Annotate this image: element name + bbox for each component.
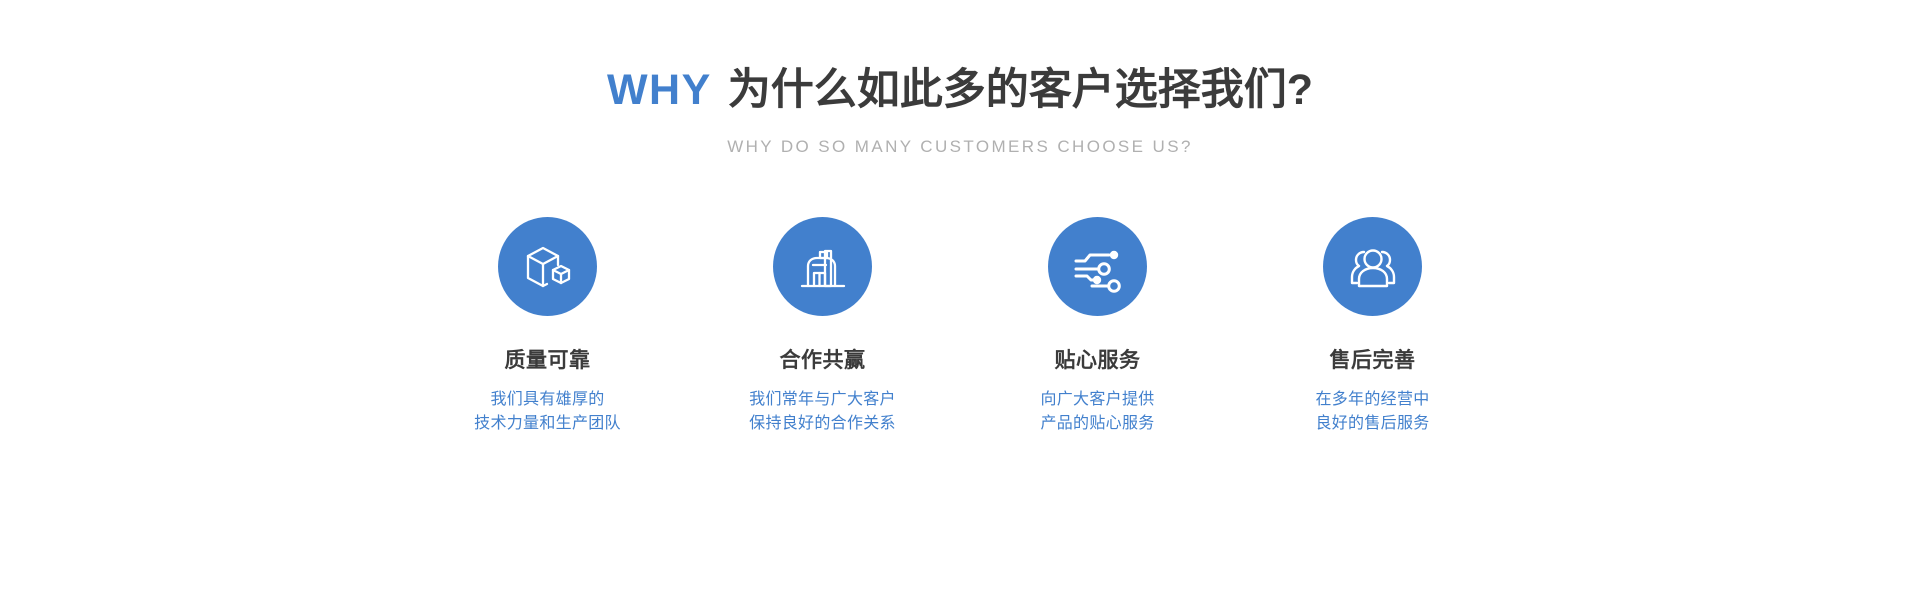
feature-item-service[interactable]: 贴心服务 向广大客户提供 产品的贴心服务 (975, 217, 1220, 437)
feature-item-cooperation[interactable]: 合作共赢 我们常年与广大客户 保持良好的合作关系 (700, 217, 945, 437)
feature-desc-2-line2: 保持良好的合作关系 (749, 412, 896, 437)
feature-desc-2: 我们常年与广大客户 保持良好的合作关系 (749, 388, 896, 438)
feature-desc-1: 我们具有雄厚的 技术力量和生产团队 (474, 388, 621, 438)
page-title: WHY为什么如此多的客户选择我们? (0, 66, 1920, 115)
feature-desc-1-line1: 我们具有雄厚的 (474, 388, 621, 413)
users-group-icon (1345, 239, 1401, 295)
factory-icon (795, 239, 851, 295)
feature-desc-4-line2: 良好的售后服务 (1315, 412, 1429, 437)
feature-desc-3: 向广大客户提供 产品的贴心服务 (1040, 388, 1154, 438)
feature-desc-2-line1: 我们常年与广大客户 (749, 388, 896, 413)
feature-icon-circle-1[interactable] (498, 217, 597, 316)
feature-icon-circle-4[interactable] (1323, 217, 1422, 316)
why-choose-us-section: WHY为什么如此多的客户选择我们? WHY DO SO MANY CUSTOME… (0, 0, 1920, 615)
feature-desc-4: 在多年的经营中 良好的售后服务 (1315, 388, 1429, 438)
feature-list: 质量可靠 我们具有雄厚的 技术力量和生产团队 (425, 217, 1495, 437)
feature-title-2: 合作共赢 (780, 348, 866, 373)
feature-desc-1-line2: 技术力量和生产团队 (474, 412, 621, 437)
feature-item-quality[interactable]: 质量可靠 我们具有雄厚的 技术力量和生产团队 (425, 217, 670, 437)
feature-item-aftersales[interactable]: 售后完善 在多年的经营中 良好的售后服务 (1250, 217, 1495, 437)
feature-title-3: 贴心服务 (1055, 348, 1141, 373)
feature-desc-3-line1: 向广大客户提供 (1040, 388, 1154, 413)
section-heading: WHY为什么如此多的客户选择我们? WHY DO SO MANY CUSTOME… (0, 66, 1920, 157)
package-box-icon (520, 239, 576, 295)
title-keyword-why: WHY (607, 66, 712, 114)
title-chinese: 为什么如此多的客户选择我们? (728, 66, 1313, 114)
feature-desc-3-line2: 产品的贴心服务 (1040, 412, 1154, 437)
feature-icon-circle-3[interactable] (1048, 217, 1147, 316)
page-subtitle: WHY DO SO MANY CUSTOMERS CHOOSE US? (0, 137, 1920, 157)
feature-title-1: 质量可靠 (505, 348, 591, 373)
feature-icon-circle-2[interactable] (773, 217, 872, 316)
circuit-nodes-icon (1070, 239, 1126, 295)
feature-desc-4-line1: 在多年的经营中 (1315, 388, 1429, 413)
feature-title-4: 售后完善 (1330, 348, 1416, 373)
